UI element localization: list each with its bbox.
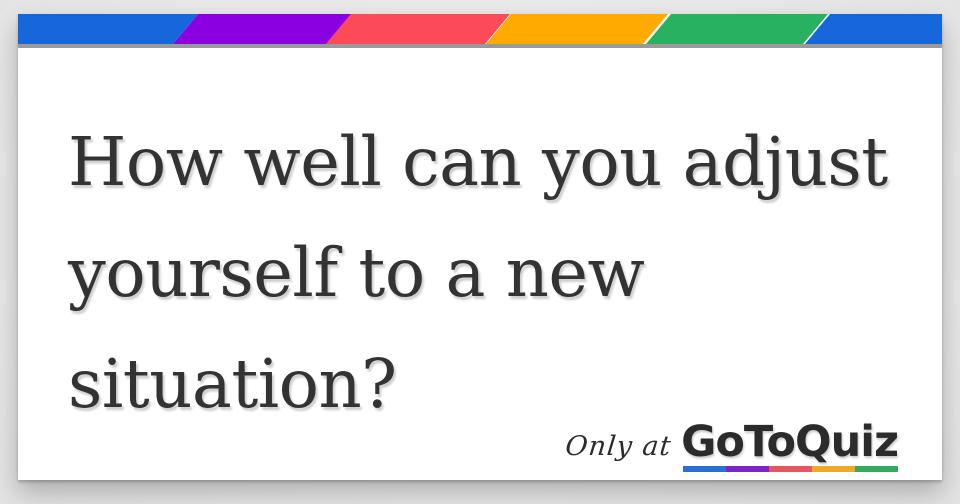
quiz-question-title: How well can you adjust yourself to a ne…: [68, 107, 898, 440]
stripe-segment-blue: [18, 14, 198, 44]
page-background: How well can you adjust yourself to a ne…: [0, 0, 960, 504]
only-at-label: Only at: [563, 431, 673, 472]
brand-underline-red: [769, 466, 812, 472]
stripe-bottom-rule: [18, 44, 942, 48]
gotoquiz-underline-bar: [683, 466, 898, 472]
rainbow-header-stripe: [18, 14, 942, 44]
brand-underline-orange: [812, 466, 855, 472]
brand-lockup: Only at GoToQuiz: [565, 421, 898, 472]
stripe-segment-red: [326, 14, 510, 44]
stripe-segment-purple: [173, 14, 351, 44]
brand-underline-green: [855, 466, 898, 472]
brand-underline-purple: [726, 466, 769, 472]
quiz-title-card: How well can you adjust yourself to a ne…: [18, 14, 942, 480]
gotoquiz-wordmark: GoToQuiz: [681, 421, 898, 464]
gotoquiz-logo[interactable]: GoToQuiz: [681, 421, 898, 472]
stripe-segment-orange: [486, 14, 668, 44]
stripe-segment-green: [646, 14, 828, 44]
stripe-segment-blue-2: [805, 14, 942, 44]
brand-underline-blue: [683, 466, 726, 472]
